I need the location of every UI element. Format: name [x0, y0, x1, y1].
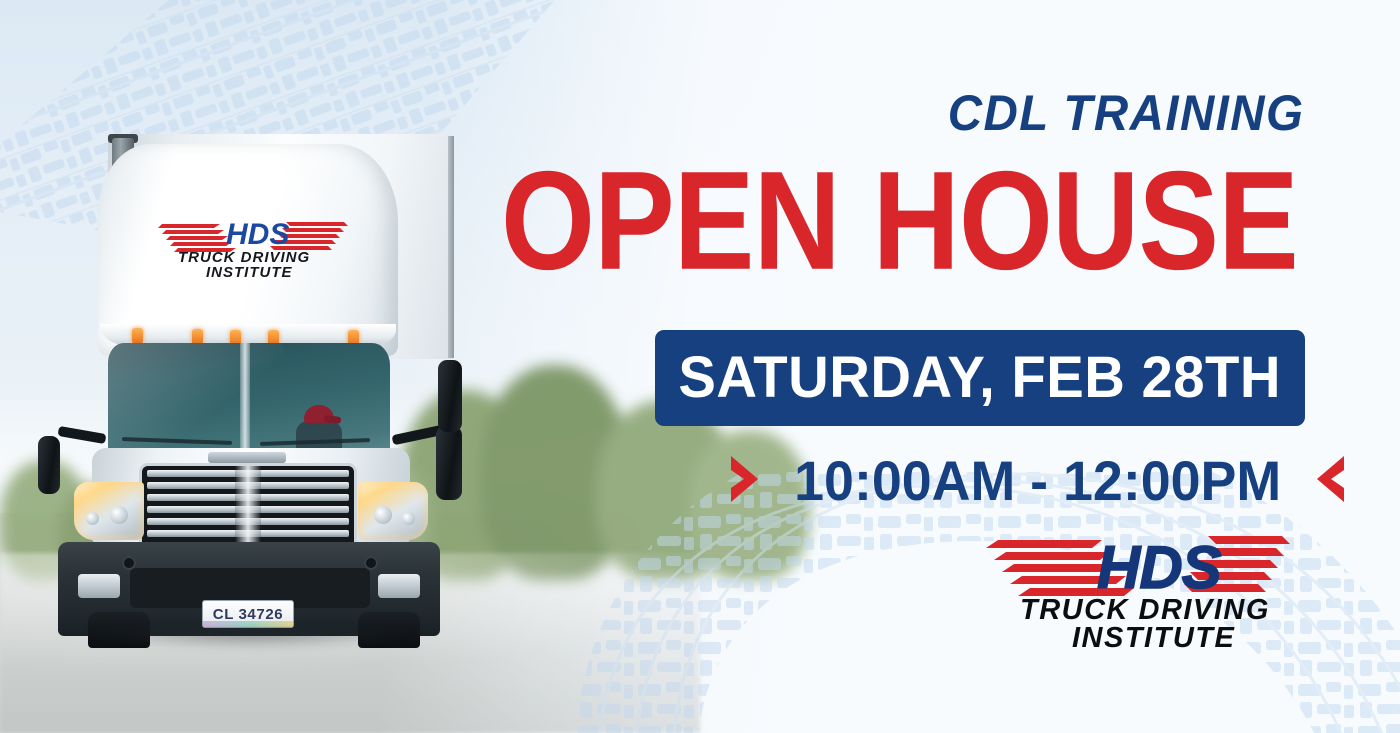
time-text: 10:00AM - 12:00PM [794, 453, 1281, 509]
truck-cab-hds-decal: HDS TRUCK DRIVING INSTITUTE [158, 218, 348, 286]
license-plate-number: CL 34726 [213, 606, 283, 623]
marker-light [132, 328, 143, 344]
semi-truck-front-view: HDS TRUCK DRIVING INSTITUTE [40, 130, 510, 640]
decal-line-3: INSTITUTE [206, 264, 293, 281]
mirror-arm-left [57, 426, 106, 444]
fog-light-right [378, 574, 420, 598]
logo-line-2: TRUCK DRIVING [1020, 596, 1270, 625]
fog-light-left [78, 574, 120, 598]
hds-truck-driving-institute-logo: HDS TRUCK DRIVING INSTITUTE [980, 532, 1290, 652]
tow-hook [364, 556, 378, 570]
headlight-left [74, 482, 144, 540]
tow-hook [122, 556, 136, 570]
chevron-left-icon [1311, 453, 1349, 510]
logo-line-3: INSTITUTE [1072, 624, 1235, 653]
date-text: SATURDAY, FEB 28TH [679, 349, 1282, 407]
license-plate: CL 34726 [202, 600, 294, 628]
truck-ground-shadow [64, 630, 436, 656]
headlight-right [358, 482, 428, 540]
hood-nameplate [208, 452, 286, 463]
truck-windshield [108, 343, 390, 455]
mirror-head-left [38, 436, 60, 494]
date-banner: SATURDAY, FEB 28TH [655, 330, 1305, 426]
mirror-head-right [436, 426, 462, 500]
truck-trailer-edge [448, 136, 454, 358]
promo-text-column: CDL TRAINING OPEN HOUSE SATURDAY, FEB 28… [500, 0, 1400, 733]
cdl-open-house-banner: HDS TRUCK DRIVING INSTITUTE [0, 0, 1400, 733]
driver-red-cap [304, 405, 334, 423]
chevron-right-icon [726, 453, 764, 510]
eyebrow-cdl-training: CDL TRAINING [947, 88, 1304, 138]
page-title-open-house: OPEN HOUSE [501, 150, 1298, 290]
mirror-head-right-upper [438, 360, 462, 432]
time-row: 10:00AM - 12:00PM [770, 448, 1305, 514]
logo-initials: HDS [1097, 538, 1221, 598]
decal-initials: HDS [226, 220, 289, 250]
license-plate-band [203, 621, 293, 627]
